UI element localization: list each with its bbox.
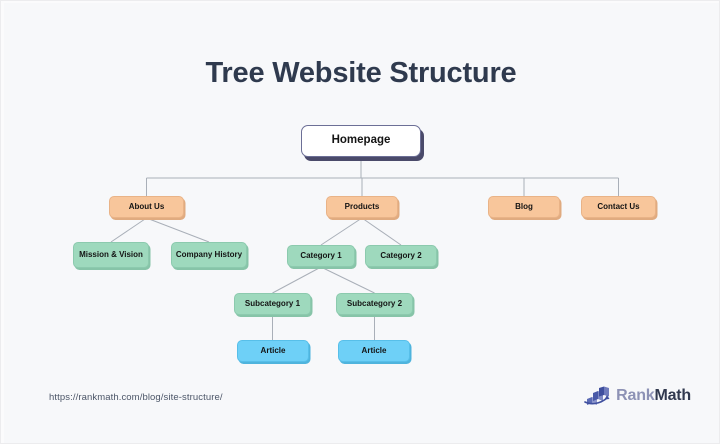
edge-category-1-subcategory-1 bbox=[273, 267, 322, 293]
node-blog[interactable]: Blog bbox=[488, 196, 560, 218]
edge-products-category-2 bbox=[362, 218, 401, 245]
node-subcategory-2-label: Subcategory 2 bbox=[347, 299, 402, 308]
node-company-history[interactable]: Company History bbox=[171, 242, 247, 268]
node-contact-us[interactable]: Contact Us bbox=[581, 196, 656, 218]
node-mission-vision[interactable]: Mission & Vision bbox=[73, 242, 149, 268]
source-url[interactable]: https://rankmath.com/blog/site-structure… bbox=[49, 392, 223, 403]
edge-about-us-mission-vision bbox=[111, 218, 147, 242]
node-subcategory-2[interactable]: Subcategory 2 bbox=[336, 293, 413, 315]
node-article-2[interactable]: Article bbox=[338, 340, 410, 362]
rankmath-bar-chart-arrow-icon bbox=[584, 386, 610, 406]
node-about-us[interactable]: About Us bbox=[109, 196, 184, 218]
node-article-1[interactable]: Article bbox=[237, 340, 309, 362]
node-blog-label: Blog bbox=[515, 202, 533, 211]
node-homepage[interactable]: Homepage bbox=[301, 125, 421, 157]
node-category-2[interactable]: Category 2 bbox=[365, 245, 437, 267]
edge-about-us-company-history bbox=[147, 218, 210, 242]
node-homepage-label: Homepage bbox=[332, 134, 391, 147]
node-subcategory-1-label: Subcategory 1 bbox=[245, 299, 300, 308]
edge-category-1-subcategory-2 bbox=[321, 267, 375, 293]
rankmath-wordmark: RankMath bbox=[616, 387, 691, 405]
node-category-1-label: Category 1 bbox=[300, 251, 341, 260]
rankmath-logo[interactable]: RankMath bbox=[584, 386, 691, 406]
node-contact-us-label: Contact Us bbox=[597, 202, 639, 211]
node-article-1-label: Article bbox=[261, 346, 286, 355]
node-products[interactable]: Products bbox=[326, 196, 398, 218]
node-about-us-label: About Us bbox=[129, 202, 165, 211]
logo-text-math: Math bbox=[654, 387, 691, 404]
node-mission-vision-label: Mission & Vision bbox=[79, 250, 143, 259]
diagram-canvas: Tree Website Structure Homepage bbox=[0, 0, 720, 444]
node-category-1[interactable]: Category 1 bbox=[287, 245, 355, 267]
node-products-label: Products bbox=[345, 202, 380, 211]
node-company-history-label: Company History bbox=[176, 250, 242, 259]
node-category-2-label: Category 2 bbox=[380, 251, 421, 260]
edge-products-category-1 bbox=[321, 218, 362, 245]
node-article-2-label: Article bbox=[362, 346, 387, 355]
node-subcategory-1[interactable]: Subcategory 1 bbox=[234, 293, 311, 315]
connector-lines bbox=[1, 1, 720, 444]
logo-text-rank: Rank bbox=[616, 387, 654, 404]
